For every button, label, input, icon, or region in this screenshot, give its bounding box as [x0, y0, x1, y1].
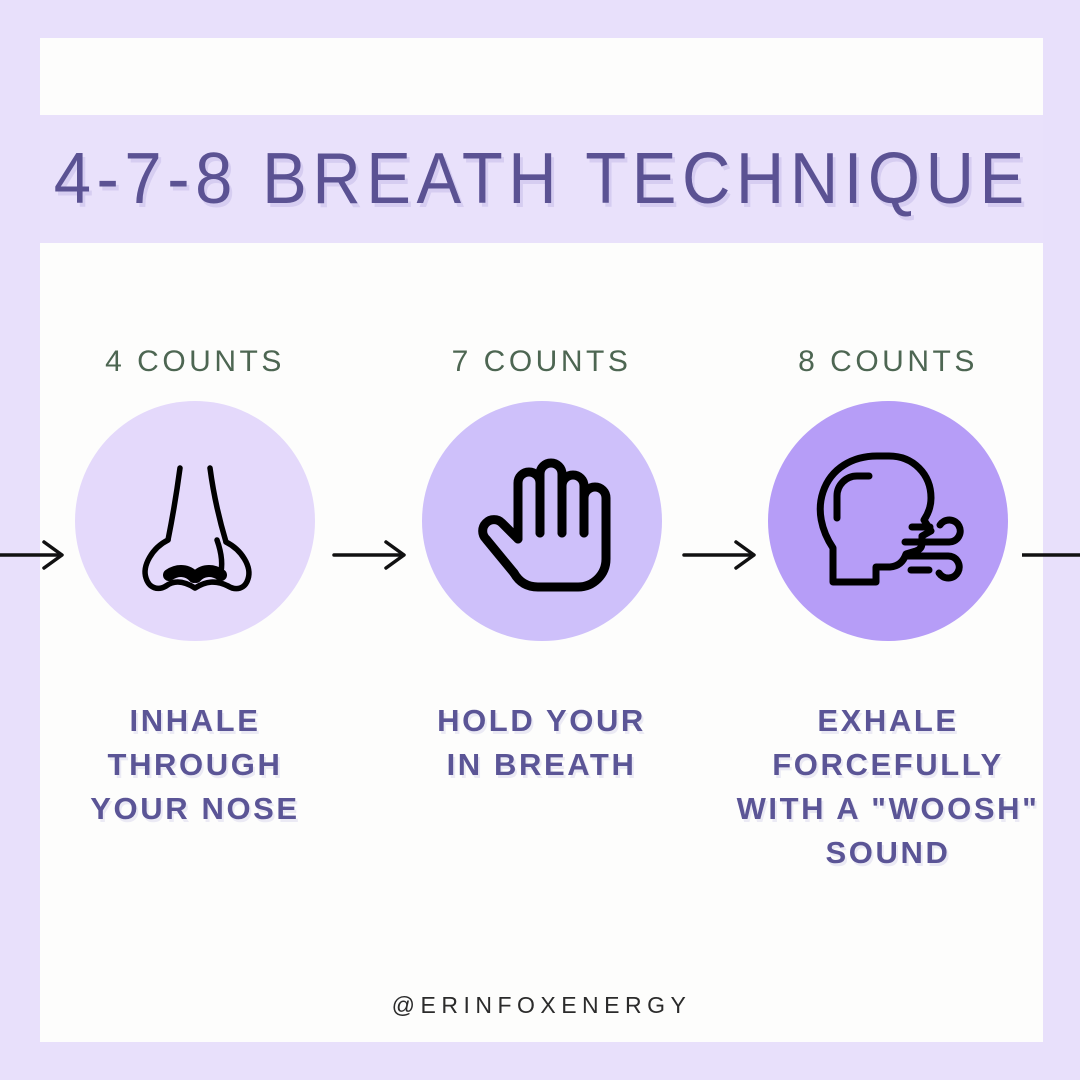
- step-1-caption-line-2: THROUGH: [90, 743, 299, 787]
- step-1-caption: INHALE THROUGH YOUR NOSE: [90, 699, 299, 831]
- step-3-caption-line-3: WITH A "WOOSH": [737, 787, 1040, 831]
- step-3-caption-line-2: FORCEFULLY: [737, 743, 1040, 787]
- head-exhale-icon: [793, 436, 983, 606]
- step-3-caption-line-1: EXHALE: [737, 699, 1040, 743]
- step-hold: 7 COUNTS HOLD YOUR IN BREATH: [387, 345, 697, 787]
- step-2-caption-line-1: HOLD YOUR: [437, 699, 646, 743]
- infographic-canvas: 4-7-8 BREATH TECHNIQUE 4 COUNTS: [0, 0, 1080, 1080]
- step-1-caption-line-3: YOUR NOSE: [90, 787, 299, 831]
- step-exhale: 8 COUNTS EXHALE FORCEFULLY WITH A "WO: [733, 345, 1043, 875]
- steps-row: 4 COUNTS INHALE THR: [40, 345, 1043, 905]
- page-title: 4-7-8 BREATH TECHNIQUE: [53, 138, 1029, 220]
- step-1-caption-line-1: INHALE: [90, 699, 299, 743]
- step-1-icon-circle: [75, 401, 315, 641]
- raised-hand-icon: [462, 441, 622, 601]
- nose-icon: [110, 436, 280, 606]
- step-2-caption: HOLD YOUR IN BREATH: [437, 699, 646, 787]
- step-3-caption-line-4: SOUND: [737, 831, 1040, 875]
- step-inhale: 4 COUNTS INHALE THR: [40, 345, 350, 831]
- step-3-icon-circle: [768, 401, 1008, 641]
- title-band: 4-7-8 BREATH TECHNIQUE: [40, 115, 1043, 243]
- account-handle: @ERINFOXENERGY: [40, 992, 1043, 1019]
- step-2-icon-circle: [422, 401, 662, 641]
- step-3-count-label: 8 COUNTS: [798, 345, 978, 379]
- step-1-count-label: 4 COUNTS: [105, 345, 285, 379]
- step-3-caption: EXHALE FORCEFULLY WITH A "WOOSH" SOUND: [737, 699, 1040, 875]
- step-2-count-label: 7 COUNTS: [452, 345, 632, 379]
- step-2-caption-line-2: IN BREATH: [437, 743, 646, 787]
